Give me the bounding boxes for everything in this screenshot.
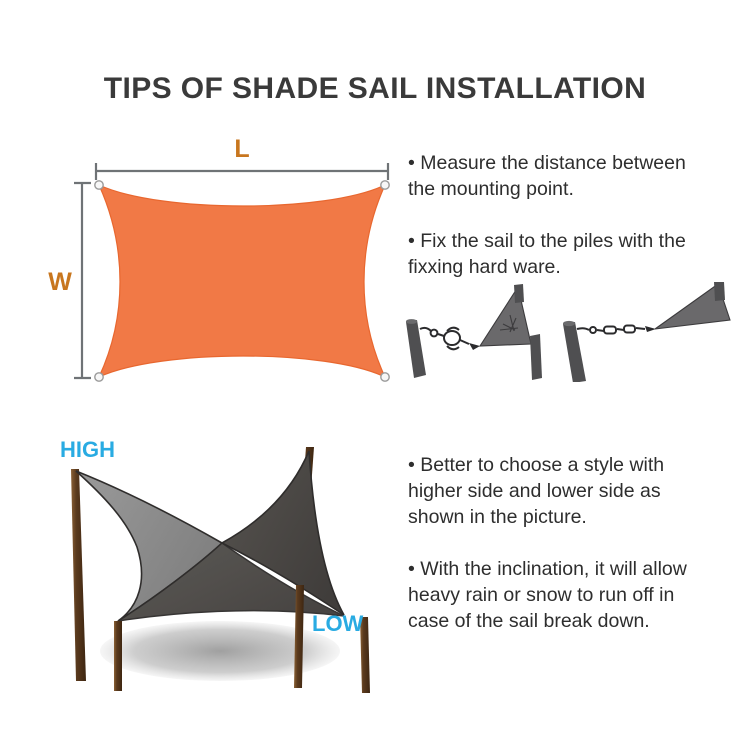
width-dimension-line: [74, 183, 91, 378]
canopy-diagram: HIGH LOW: [30, 435, 410, 700]
post-back-left-high: [71, 469, 86, 681]
turnbuckle-icon: [420, 328, 469, 350]
tip-line: shown in the picture.: [408, 504, 750, 530]
tip-line: case of the sail break down.: [408, 608, 750, 634]
chain-icon: [577, 326, 645, 334]
tip-line: • Fix the sail to the piles with the: [408, 228, 750, 254]
tip-item: • Fix the sail to the piles with the fix…: [408, 228, 750, 280]
dimension-diagram: L W: [40, 135, 400, 410]
tip-line: • Measure the distance between: [408, 150, 750, 176]
infographic-root: TIPS OF SHADE SAIL INSTALLATION: [0, 0, 750, 750]
hardware-diagram-svg: [400, 282, 750, 382]
hardware-diagram: [400, 282, 750, 382]
tip-line: • With the inclination, it will allow: [408, 556, 750, 582]
ground-shadow: [100, 621, 340, 681]
tip-line: higher side and lower side as: [408, 478, 750, 504]
low-label: LOW: [312, 611, 364, 636]
tip-line: the mounting point.: [408, 176, 750, 202]
length-dimension-line: [96, 163, 388, 180]
tip-item: • Measure the distance between the mount…: [408, 150, 750, 202]
high-label: HIGH: [60, 437, 115, 462]
connector-icon: [469, 343, 480, 350]
tip-item: • Better to choose a style with higher s…: [408, 452, 750, 530]
post-front-left: [114, 621, 122, 691]
sail-corner-icon: [480, 284, 542, 380]
canopy-diagram-svg: HIGH LOW: [30, 435, 410, 700]
grommet-top-right: [381, 181, 389, 189]
grommet-bottom-right: [381, 373, 389, 381]
tip-line: • Better to choose a style with: [408, 452, 750, 478]
hardware-assembly-left: [406, 284, 542, 380]
length-label: L: [234, 135, 249, 163]
tip-item: • With the inclination, it will allow he…: [408, 556, 750, 634]
sail-corner-icon: [655, 282, 730, 329]
page-title: TIPS OF SHADE SAIL INSTALLATION: [0, 72, 750, 106]
hardware-assembly-right: [563, 282, 730, 382]
tips-bottom-text-block: • Better to choose a style with higher s…: [408, 452, 750, 647]
post-icon: [563, 321, 586, 382]
grommet-bottom-left: [95, 373, 103, 381]
dimension-diagram-svg: L W: [40, 135, 400, 410]
grommet-top-left: [95, 181, 103, 189]
tip-line: heavy rain or snow to run off in: [408, 582, 750, 608]
width-label: W: [48, 268, 72, 296]
connector-icon: [645, 326, 656, 332]
shade-sail-shape: [99, 185, 385, 377]
tips-top-text-block: • Measure the distance between the mount…: [408, 150, 750, 280]
tip-line: fixxing hard ware.: [408, 254, 750, 280]
